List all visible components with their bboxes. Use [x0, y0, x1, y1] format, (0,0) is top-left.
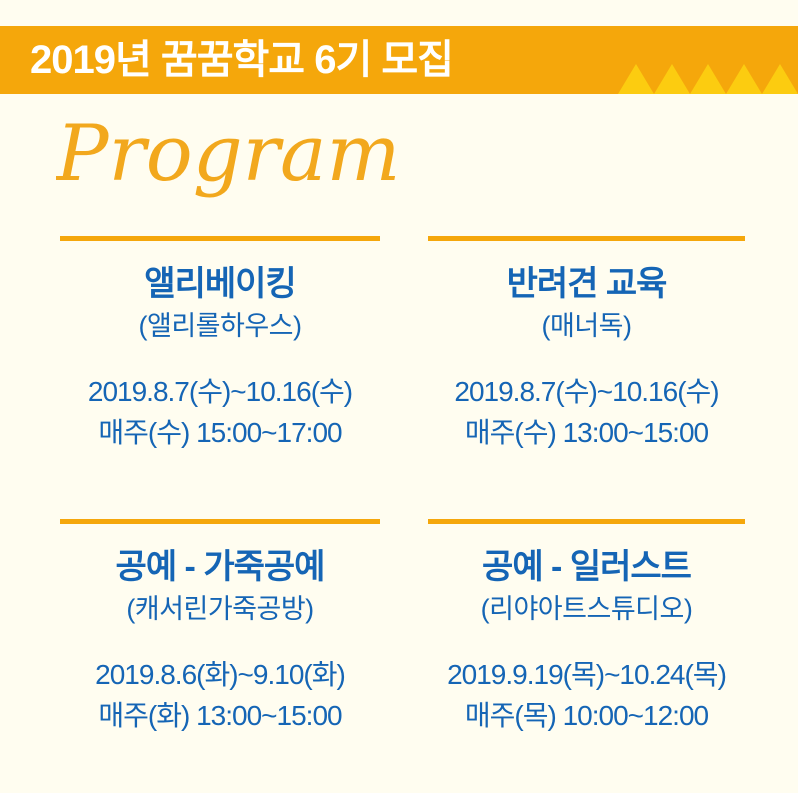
program-time: 매주(수) 15:00~17:00	[60, 413, 380, 454]
program-venue: (매너독)	[428, 310, 745, 342]
program-script-title: Program	[56, 104, 456, 204]
program-schedule: 2019.8.7(수)~10.16(수) 매주(수) 15:00~17:00	[60, 372, 380, 453]
program-card: 앨리베이킹 (앨리롤하우스) 2019.8.7(수)~10.16(수) 매주(수…	[0, 222, 399, 505]
triangle-icon	[618, 64, 654, 94]
triangle-icon	[690, 64, 726, 94]
program-dates: 2019.8.7(수)~10.16(수)	[428, 372, 745, 413]
program-title: 앨리베이킹	[60, 265, 380, 304]
program-title: 공예 - 가죽공예	[60, 548, 380, 587]
program-dates: 2019.8.7(수)~10.16(수)	[60, 372, 380, 413]
program-schedule: 2019.8.7(수)~10.16(수) 매주(수) 13:00~15:00	[428, 372, 745, 453]
header-banner: 2019년 꿈꿈학교 6기 모집	[0, 26, 798, 94]
card-divider	[60, 519, 380, 524]
section-heading: Program	[56, 104, 456, 204]
card-divider	[428, 519, 745, 524]
program-schedule: 2019.9.19(목)~10.24(목) 매주(목) 10:00~12:00	[428, 655, 745, 736]
program-venue: (앨리롤하우스)	[60, 310, 380, 342]
triangle-icon	[762, 64, 798, 94]
program-time: 매주(화) 13:00~15:00	[60, 696, 380, 737]
program-title: 반려견 교육	[428, 265, 745, 304]
program-card: 공예 - 가죽공예 (캐서린가죽공방) 2019.8.6(화)~9.10(화) …	[0, 505, 399, 788]
program-title: 공예 - 일러스트	[428, 548, 745, 587]
program-card: 반려견 교육 (매너독) 2019.8.7(수)~10.16(수) 매주(수) …	[399, 222, 798, 505]
program-card: 공예 - 일러스트 (리야아트스튜디오) 2019.9.19(목)~10.24(…	[399, 505, 798, 788]
program-script-label: Program	[56, 109, 400, 199]
program-grid: 앨리베이킹 (앨리롤하우스) 2019.8.7(수)~10.16(수) 매주(수…	[0, 222, 798, 788]
program-venue: (리야아트스튜디오)	[428, 593, 745, 625]
program-venue: (캐서린가죽공방)	[60, 593, 380, 625]
poster-root: 2019년 꿈꿈학교 6기 모집 Program 앨리베이킹 (앨리롤하우스) …	[0, 0, 798, 793]
card-divider	[428, 236, 745, 241]
program-time: 매주(수) 13:00~15:00	[428, 413, 745, 454]
page-title: 2019년 꿈꿈학교 6기 모집	[30, 40, 453, 80]
triangle-icon	[654, 64, 690, 94]
zigzag-decoration	[618, 64, 798, 94]
program-dates: 2019.8.6(화)~9.10(화)	[60, 655, 380, 696]
program-schedule: 2019.8.6(화)~9.10(화) 매주(화) 13:00~15:00	[60, 655, 380, 736]
program-time: 매주(목) 10:00~12:00	[428, 696, 745, 737]
triangle-icon	[726, 64, 762, 94]
card-divider	[60, 236, 380, 241]
program-dates: 2019.9.19(목)~10.24(목)	[428, 655, 745, 696]
